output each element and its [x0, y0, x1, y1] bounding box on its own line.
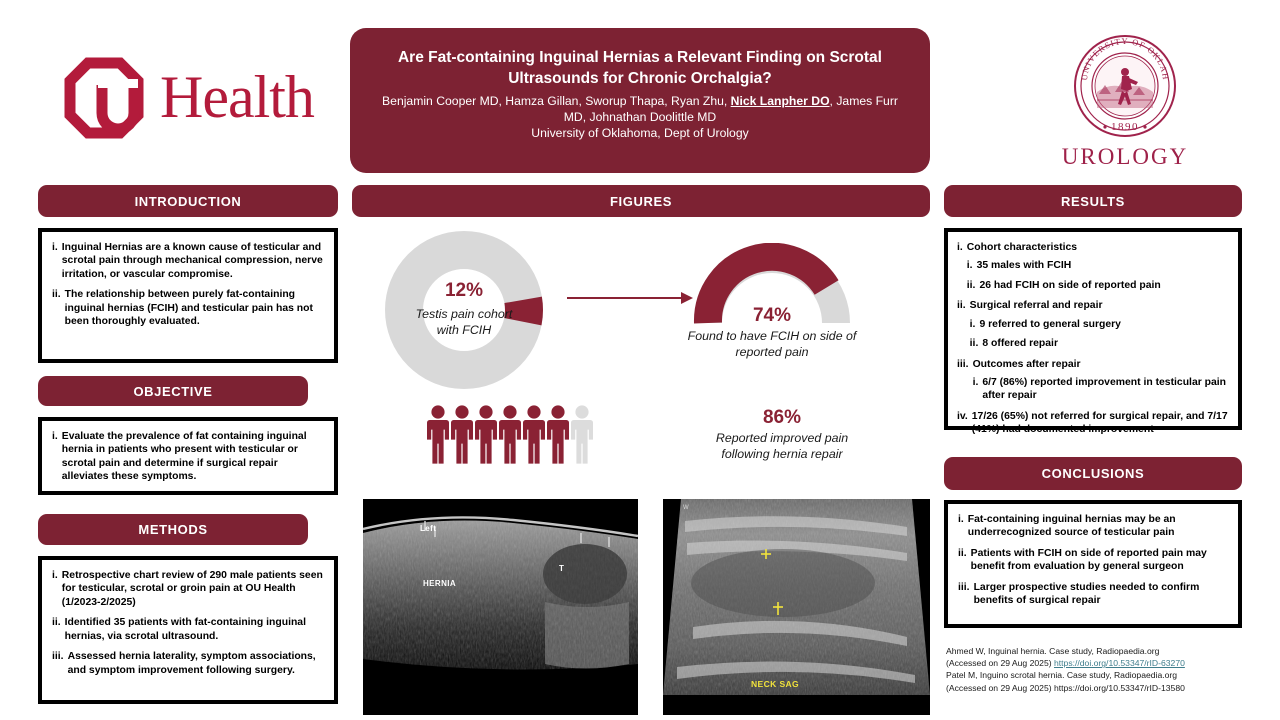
ultrasound-label-neck-sag: NECK SAG [751, 679, 799, 689]
item-text: 35 males with FCIH [977, 259, 1229, 272]
figures-area: 12% Testis pain cohort with FCIH 74% Fou… [352, 225, 930, 715]
list-item: i. Retrospective chart review of 290 mal… [52, 569, 324, 609]
item-text: Outcomes after repair [973, 359, 1081, 370]
author-list: Benjamin Cooper MD, Hamza Gillan, Sworup… [372, 93, 908, 125]
item-number: ii. [52, 288, 61, 328]
results-panel: i. Cohort characteristics i. 35 males wi… [944, 228, 1242, 430]
arrow-right-icon [565, 287, 695, 309]
ou-monogram-icon [62, 55, 162, 150]
item-number: i. [967, 259, 973, 272]
item-number: iii. [52, 650, 64, 677]
list-item: i. Cohort characteristics i. 35 males wi… [957, 241, 1229, 292]
list-item: iv. 17/26 (65%) not referred for surgica… [957, 410, 1229, 437]
item-number: ii. [958, 547, 967, 574]
poster-canvas: Health Are Fat-containing Inguinal Herni… [0, 0, 1280, 720]
section-header-methods: METHODS [38, 514, 308, 545]
item-text: Inguinal Hernias are a known cause of te… [62, 241, 324, 281]
list-item: ii. The relationship between purely fat-… [52, 288, 324, 328]
objective-panel: i. Evaluate the prevalence of fat contai… [38, 417, 338, 495]
donut-caption-line2: with FCIH [437, 323, 491, 337]
pictogram-percent-label: 86% [692, 407, 872, 429]
list-item: i. 6/7 (86%) reported improvement in tes… [973, 376, 1229, 403]
item-number: i. [52, 241, 58, 281]
section-header-objective: OBJECTIVE [38, 376, 308, 406]
item-text: 8 offered repair [982, 337, 1229, 350]
ultrasound-label-t: T [559, 564, 564, 573]
reference-line: Ahmed W, Inguinal hernia. Case study, Ra… [946, 645, 1246, 657]
item-number: i. [52, 569, 58, 609]
item-number: i. [957, 241, 963, 292]
item-number: ii. [967, 279, 976, 292]
urology-wordmark: UROLOGY [1032, 144, 1218, 170]
authors-first: Benjamin Cooper MD, Hamza Gillan, Sworup… [382, 94, 731, 108]
list-item: iii. Larger prospective studies needed t… [958, 581, 1228, 608]
item-number: i. [973, 376, 979, 403]
affiliation: University of Oklahoma, Dept of Urology [372, 125, 908, 141]
references-block: Ahmed W, Inguinal hernia. Case study, Ra… [946, 645, 1246, 694]
reference-doi-link[interactable]: https://doi.org/10.53347/rID-63270 [1054, 658, 1185, 668]
item-number: ii. [957, 299, 966, 350]
item-text: 9 referred to general surgery [979, 318, 1229, 331]
item-number: ii. [52, 616, 61, 643]
ultrasound-image-inguinal-hernia: Left HERNIA T [363, 499, 638, 715]
item-number: iii. [957, 358, 969, 403]
pictogram-caption-line1: Reported improved pain [716, 431, 848, 445]
gauge-caption-line1: Found to have FCIH on side of [688, 329, 857, 343]
pictogram-caption-line2: following hernia repair [721, 447, 842, 461]
results-sublist: i. 35 males with FCIH ii. 26 had FCIH on… [967, 259, 1229, 292]
methods-list: i. Retrospective chart review of 290 mal… [52, 569, 324, 677]
item-text: 26 had FCIH on side of reported pain [979, 279, 1229, 292]
conclusions-list: i. Fat-containing inguinal hernias may b… [958, 513, 1228, 608]
pictogram-empty-group [571, 405, 593, 463]
figures-heading-label: FIGURES [610, 194, 672, 209]
reference-line: (Accessed on 29 Aug 2025) https://doi.or… [946, 657, 1246, 669]
item-number: iii. [958, 581, 970, 608]
item-text: Fat-containing inguinal hernias may be a… [968, 513, 1228, 540]
svg-text:1890: 1890 [1111, 121, 1139, 133]
item-text: Retrospective chart review of 290 male p… [62, 569, 324, 609]
introduction-heading-label: INTRODUCTION [135, 194, 242, 209]
objective-list: i. Evaluate the prevalence of fat contai… [52, 430, 324, 484]
poster-title-block: Are Fat-containing Inguinal Hernias a Re… [350, 28, 930, 173]
results-sublist: i. 9 referred to general surgery ii. 8 o… [970, 318, 1229, 351]
list-item: i. Evaluate the prevalence of fat contai… [52, 430, 324, 484]
donut-caption: Testis pain cohort with FCIH [384, 307, 544, 339]
item-text: Assessed hernia laterality, symptom asso… [68, 650, 324, 677]
ultrasound-render-1 [363, 499, 638, 715]
item-text: The relationship between purely fat-cont… [65, 288, 324, 328]
list-item: ii. Surgical referral and repair i. 9 re… [957, 299, 1229, 350]
results-list: i. Cohort characteristics i. 35 males wi… [957, 241, 1229, 437]
methods-heading-label: METHODS [138, 522, 207, 537]
objective-heading-label: OBJECTIVE [133, 384, 212, 399]
ultrasound-label-left: Left [420, 524, 436, 533]
university-seal-icon: THE UNIVERSITY OF OKLAHOMA 1890 [1032, 32, 1218, 144]
results-heading-label: RESULTS [1061, 194, 1125, 209]
item-text: Evaluate the prevalence of fat containin… [62, 430, 324, 484]
item-number: i. [970, 318, 976, 331]
item-text: Larger prospective studies needed to con… [974, 581, 1228, 608]
section-header-figures: FIGURES [352, 185, 930, 217]
item-text: 6/7 (86%) reported improvement in testic… [982, 376, 1229, 403]
ultrasound-image-inguinoscrotal-hernia: W NECK SAG [663, 499, 930, 715]
list-item: i. 35 males with FCIH [967, 259, 1229, 272]
presenting-author: Nick Lanpher DO [731, 94, 830, 108]
pictogram-filled-group [427, 405, 569, 463]
item-text: Identified 35 patients with fat-containi… [65, 616, 324, 643]
conclusions-heading-label: CONCLUSIONS [1042, 466, 1145, 481]
gauge-caption-line2: reported pain [735, 345, 808, 359]
list-item: i. Inguinal Hernias are a known cause of… [52, 241, 324, 281]
ou-urology-logo: THE UNIVERSITY OF OKLAHOMA 1890 UROLOGY [1032, 32, 1218, 172]
results-sublist: i. 6/7 (86%) reported improvement in tes… [973, 376, 1229, 403]
page-title: Are Fat-containing Inguinal Hernias a Re… [372, 48, 908, 90]
svg-text:W: W [683, 505, 689, 511]
introduction-list: i. Inguinal Hernias are a known cause of… [52, 241, 324, 329]
list-item: ii. Identified 35 patients with fat-cont… [52, 616, 324, 643]
methods-panel: i. Retrospective chart review of 290 mal… [38, 556, 338, 704]
list-item: iii. Assessed hernia laterality, symptom… [52, 650, 324, 677]
item-text: Cohort characteristics [967, 242, 1077, 253]
list-item: ii. 26 had FCIH on side of reported pain [967, 279, 1229, 292]
item-number: ii. [970, 337, 979, 350]
item-text: Patients with FCIH on side of reported p… [971, 547, 1228, 574]
item-text: 17/26 (65%) not referred for surgical re… [972, 410, 1229, 437]
item-number: i. [52, 430, 58, 484]
section-header-conclusions: CONCLUSIONS [944, 457, 1242, 490]
ultrasound-label-hernia: HERNIA [423, 579, 456, 588]
item-number: i. [958, 513, 964, 540]
reference-line: (Accessed on 29 Aug 2025) https://doi.or… [946, 682, 1246, 694]
list-item: ii. Patients with FCIH on side of report… [958, 547, 1228, 574]
reference-line: Patel M, Inguino scrotal hernia. Case st… [946, 669, 1246, 681]
gauge-caption: Found to have FCIH on side of reported p… [662, 329, 882, 361]
chart-pictogram-improved-pain [427, 402, 607, 472]
ou-health-logo: Health [62, 55, 302, 150]
introduction-panel: i. Inguinal Hernias are a known cause of… [38, 228, 338, 363]
conclusions-panel: i. Fat-containing inguinal hernias may b… [944, 500, 1242, 628]
section-header-introduction: INTRODUCTION [38, 185, 338, 217]
donut-caption-line1: Testis pain cohort [416, 307, 513, 321]
reference-accessed: (Accessed on 29 Aug 2025) [946, 658, 1054, 668]
gauge-percent-label: 74% [722, 305, 822, 327]
pictogram-caption: Reported improved pain following hernia … [682, 431, 882, 463]
list-item: i. 9 referred to general surgery [970, 318, 1229, 331]
item-text: Surgical referral and repair [970, 300, 1103, 311]
list-item: iii. Outcomes after repair i. 6/7 (86%) … [957, 358, 1229, 403]
list-item: ii. 8 offered repair [970, 337, 1229, 350]
ou-health-wordmark: Health [160, 63, 314, 132]
section-header-results: RESULTS [944, 185, 1242, 217]
list-item: i. Fat-containing inguinal hernias may b… [958, 513, 1228, 540]
donut-percent-label: 12% [414, 280, 514, 302]
item-number: iv. [957, 410, 968, 437]
